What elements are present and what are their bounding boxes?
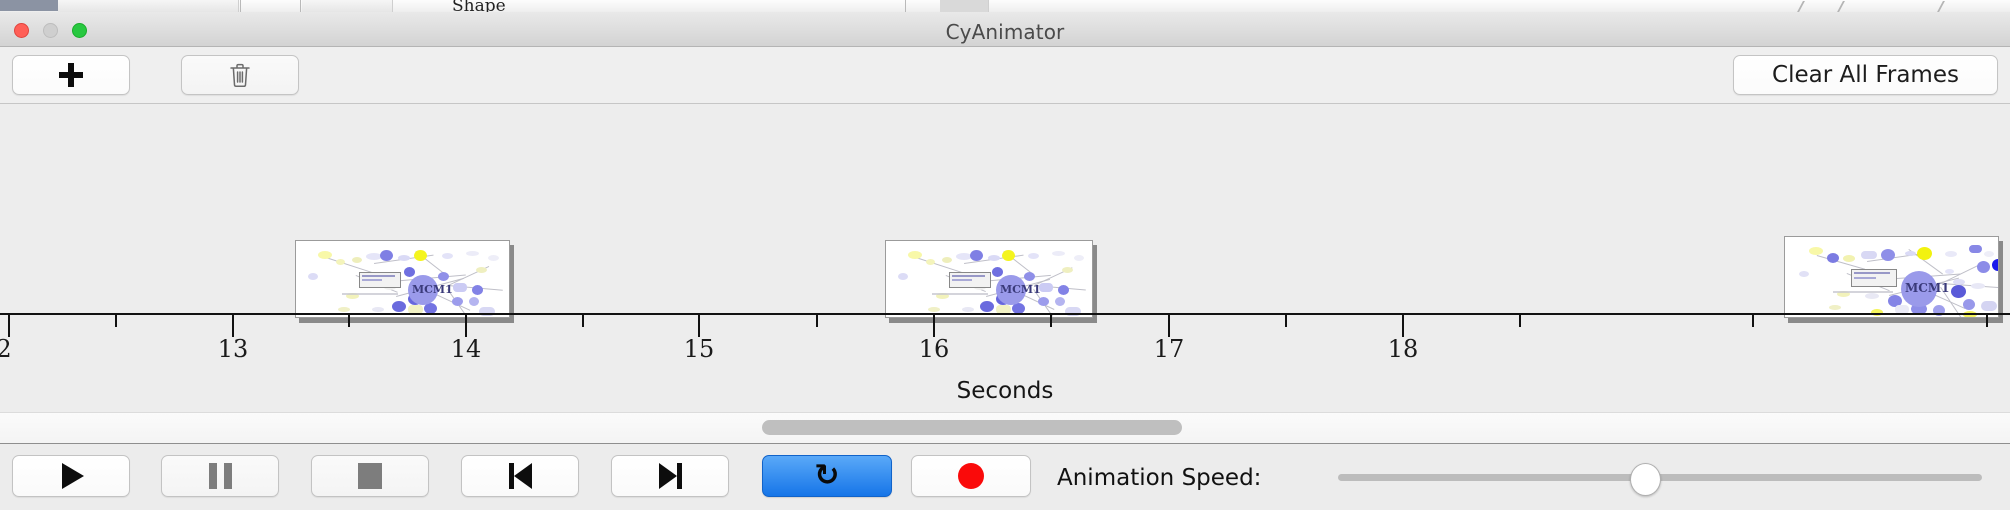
timeline-panel[interactable]: MCM1 [0, 104, 2010, 407]
axis-tick-minor [348, 315, 350, 327]
play-button[interactable] [12, 455, 130, 497]
timeline-scrollbar-thumb[interactable] [762, 420, 1182, 435]
axis-tick-major [8, 315, 10, 337]
delete-frame-button[interactable] [181, 55, 299, 95]
window-title: CyAnimator [0, 20, 2010, 44]
axis-tick-minor [1285, 315, 1287, 327]
frame-thumbnail[interactable]: MCM1 [295, 240, 510, 318]
axis-tick-major [1168, 315, 1170, 337]
axis-tick-major [933, 315, 935, 337]
animation-speed-label: Animation Speed: [1057, 465, 1261, 491]
loop-button[interactable]: ↻ [762, 455, 892, 497]
axis-tick-label: 17 [1154, 335, 1185, 363]
title-bar: CyAnimator [0, 12, 2010, 47]
background-decoration [1837, 1, 1855, 12]
timeline-axis-line [0, 313, 2010, 315]
frame-thumbnail[interactable]: MCM1 [885, 240, 1093, 318]
loop-icon: ↻ [814, 461, 839, 491]
axis-tick-minor [115, 315, 117, 327]
frame-thumbnail[interactable]: MCM1 [1784, 236, 1999, 318]
background-divider [905, 0, 906, 12]
background-decoration [1937, 1, 1955, 12]
timeline-frame-2[interactable]: MCM1 [885, 240, 1093, 318]
stop-button[interactable] [311, 455, 429, 497]
axis-tick-label: 14 [451, 335, 482, 363]
axis-tick-label: 18 [1388, 335, 1419, 363]
axis-title: Seconds [0, 378, 2010, 404]
frame-toolbar [0, 47, 2010, 104]
background-window-strip: Shape [0, 0, 2010, 12]
background-tab [178, 0, 239, 12]
timeline-frame-3[interactable]: MCM1 [1784, 236, 1999, 318]
skip-back-icon [509, 463, 532, 489]
axis-tick-label: 16 [919, 335, 950, 363]
axis-tick-minor [816, 315, 818, 327]
axis-tick-minor [582, 315, 584, 327]
add-frame-button[interactable] [12, 55, 130, 95]
axis-tick-minor [1752, 315, 1754, 327]
timeline-frame-1[interactable]: MCM1 [295, 240, 510, 318]
axis-tick-major [698, 315, 700, 337]
record-button[interactable] [911, 455, 1031, 497]
axis-tick-label: 13 [218, 335, 249, 363]
background-tab [940, 0, 989, 12]
pause-icon [209, 463, 232, 489]
stop-icon [358, 463, 382, 489]
background-window-label: Shape [452, 0, 506, 12]
axis-tick-minor [1050, 315, 1052, 327]
background-divider [240, 0, 241, 12]
hub-node-label: MCM1 [1905, 281, 1949, 295]
prev-frame-button[interactable] [461, 455, 579, 497]
axis-tick-label: 15 [684, 335, 715, 363]
animation-speed-slider-thumb[interactable] [1630, 463, 1661, 496]
axis-tick-minor [1519, 315, 1521, 327]
timeline-scrollbar[interactable] [0, 412, 2010, 445]
skip-forward-icon [659, 463, 682, 489]
background-decoration [1797, 1, 1815, 12]
record-icon [958, 463, 984, 489]
plus-icon [59, 63, 83, 87]
axis-tick-minor [1986, 315, 1988, 327]
hub-node-label: MCM1 [1000, 283, 1041, 296]
clear-all-frames-button[interactable]: Clear All Frames [1733, 55, 1998, 95]
background-divider [300, 0, 301, 12]
trash-icon [228, 61, 252, 89]
cyanimator-window: Shape CyAnimator Clear All Frames [0, 0, 2010, 510]
pause-button[interactable] [161, 455, 279, 497]
background-tab [302, 0, 393, 12]
hub-node-label: MCM1 [412, 283, 453, 296]
axis-tick-major [232, 315, 234, 337]
playback-toolbar: ↻ Animation Speed: [0, 444, 2010, 510]
next-frame-button[interactable] [611, 455, 729, 497]
play-icon [62, 463, 84, 489]
background-tab [58, 0, 179, 12]
axis-tick-major [465, 315, 467, 337]
axis-tick-major [1402, 315, 1404, 337]
axis-tick-label: 2 [0, 335, 12, 363]
background-window-sidebar [0, 0, 58, 11]
